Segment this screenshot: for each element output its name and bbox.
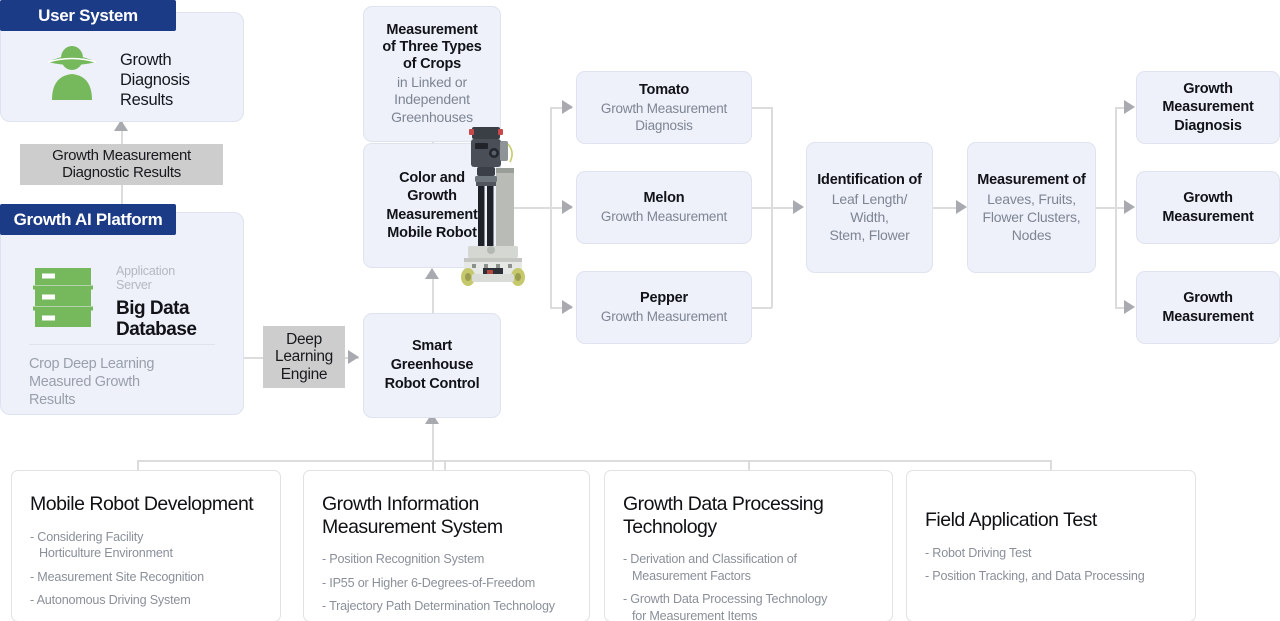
node-measurement-of[interactable]: Measurement of Leaves, Fruits, Flower Cl… (967, 142, 1096, 273)
node-measurement-three-crops[interactable]: Measurement of Three Types of Crops in L… (363, 6, 501, 142)
node-result-3[interactable]: Growth Measurement (1136, 271, 1280, 344)
node-result-1[interactable]: Growth Measurement Diagnosis (1136, 71, 1280, 144)
node-identification-title: Identification of (817, 171, 922, 190)
arrow-right-to-pepper (562, 300, 573, 314)
card-title: Growth Data Processing Technology (623, 493, 874, 538)
card-title: Mobile Robot Development (30, 493, 262, 516)
connector-bracket-drop-4 (1050, 460, 1052, 470)
node-identification-sub: Leaf Length/ Width, Stem, Flower (829, 190, 909, 245)
node-robot-control[interactable]: Smart Greenhouse Robot Control (363, 313, 501, 418)
tag-diagnostic-results: Growth Measurement Diagnostic Results (20, 144, 223, 185)
list-item: - IP55 or Higher 6-Degrees-of-Freedom (322, 575, 571, 592)
arrow-right-to-result-3 (1124, 300, 1135, 314)
connector-bracket-drop-3 (748, 460, 750, 470)
node-identification[interactable]: Identification of Leaf Length/ Width, St… (806, 142, 933, 273)
tag-deep-learning-engine: Deep Learning Engine (263, 326, 345, 388)
card-bullet-list: - Robot Driving Test - Position Tracking… (925, 545, 1177, 585)
node-measurement-of-title: Measurement of (977, 171, 1085, 190)
panel-header-growth-ai-platform: Growth AI Platform (0, 204, 176, 235)
list-item: - Growth Data Processing Technology for … (623, 591, 874, 621)
card-growth-data-processing-technology[interactable]: Growth Data Processing Technology - Deri… (604, 470, 893, 621)
connector-measurement-out (1096, 207, 1116, 209)
list-item: - Position Recognition System (322, 551, 571, 568)
node-result-1-title: Growth Measurement Diagnosis (1162, 80, 1253, 136)
arrow-up-to-mobile-robot (425, 268, 439, 279)
node-melon-title: Melon (644, 189, 685, 208)
arrow-right-to-melon (562, 200, 573, 214)
card-bullet-list: - Derivation and Classification of Measu… (623, 551, 874, 621)
panel-header-user-system: User System (0, 0, 176, 31)
platform-divider (29, 344, 215, 345)
card-mobile-robot-development[interactable]: Mobile Robot Development - Considering F… (11, 470, 281, 621)
connector-platform-to-dle (244, 357, 264, 359)
arrow-right-to-measurement (956, 200, 967, 214)
list-item: - Measurement Site Recognition (30, 569, 262, 586)
node-measurement-three-crops-title: Measurement of Three Types of Crops (382, 22, 481, 74)
arrow-right-to-result-1 (1124, 100, 1135, 114)
card-field-application-test[interactable]: Field Application Test - Robot Driving T… (906, 470, 1196, 621)
card-bullet-list: - Considering Facility Horticulture Envi… (30, 529, 262, 609)
connector-pepper-out (752, 307, 772, 309)
platform-note: Crop Deep Learning Measured Growth Resul… (29, 355, 229, 409)
card-title: Field Application Test (925, 509, 1177, 532)
list-item: - Autonomous Driving System (30, 592, 262, 609)
card-growth-information-measurement-system[interactable]: Growth Information Measurement System - … (303, 470, 590, 621)
node-measurement-three-crops-sub: in Linked or Independent Greenhouses (391, 74, 473, 127)
mobile-robot-photo (458, 124, 528, 289)
connector-tomato-out (752, 107, 772, 109)
list-item: - Considering Facility Horticulture Envi… (30, 529, 262, 562)
connector-bracket-drop-1 (137, 460, 139, 470)
node-result-3-title: Growth Measurement (1162, 289, 1253, 326)
node-measurement-of-sub: Leaves, Fruits, Flower Clusters, Nodes (983, 190, 1081, 245)
connector-melon-out (752, 207, 772, 209)
list-item: - Trajectory Path Determination Technolo… (322, 598, 571, 615)
connector-bracket-drop-2 (444, 460, 446, 470)
connector-control-to-robot (432, 275, 434, 313)
node-pepper-sub: Growth Measurement (601, 308, 727, 325)
list-item: - Robot Driving Test (925, 545, 1177, 562)
arrow-right-to-identification (793, 200, 804, 214)
list-item: - Derivation and Classification of Measu… (623, 551, 874, 584)
arrow-right-to-robot-control (348, 350, 359, 364)
arrow-right-to-tomato (562, 100, 573, 114)
platform-server-sublabel: Application Server (116, 264, 175, 293)
node-result-2-title: Growth Measurement (1162, 189, 1253, 226)
card-bullet-list: - Position Recognition System - IP55 or … (322, 551, 571, 615)
list-item: - Position Tracking, and Data Processing (925, 568, 1177, 585)
database-server-icon (33, 266, 93, 330)
farmer-user-icon (40, 36, 104, 100)
node-melon-sub: Growth Measurement (601, 208, 727, 225)
diagram-canvas: User System Growth Diagnosis Results Gro… (0, 0, 1280, 621)
arrow-right-to-result-2 (1124, 200, 1135, 214)
node-tomato-title: Tomato (639, 81, 689, 100)
node-tomato-sub: Growth Measurement Diagnosis (601, 100, 727, 135)
node-result-2[interactable]: Growth Measurement (1136, 171, 1280, 244)
node-tomato[interactable]: Tomato Growth Measurement Diagnosis (576, 71, 752, 144)
node-pepper-title: Pepper (640, 289, 688, 308)
node-robot-control-title: Smart Greenhouse Robot Control (385, 337, 480, 394)
connector-bottom-bracket (137, 460, 1050, 462)
user-system-label: Growth Diagnosis Results (120, 50, 230, 110)
connector-bracket-to-control (432, 420, 434, 472)
platform-server-mainlabel: Big Data Database (116, 299, 197, 341)
node-pepper[interactable]: Pepper Growth Measurement (576, 271, 752, 344)
card-title: Growth Information Measurement System (322, 493, 571, 538)
node-melon[interactable]: Melon Growth Measurement (576, 171, 752, 244)
